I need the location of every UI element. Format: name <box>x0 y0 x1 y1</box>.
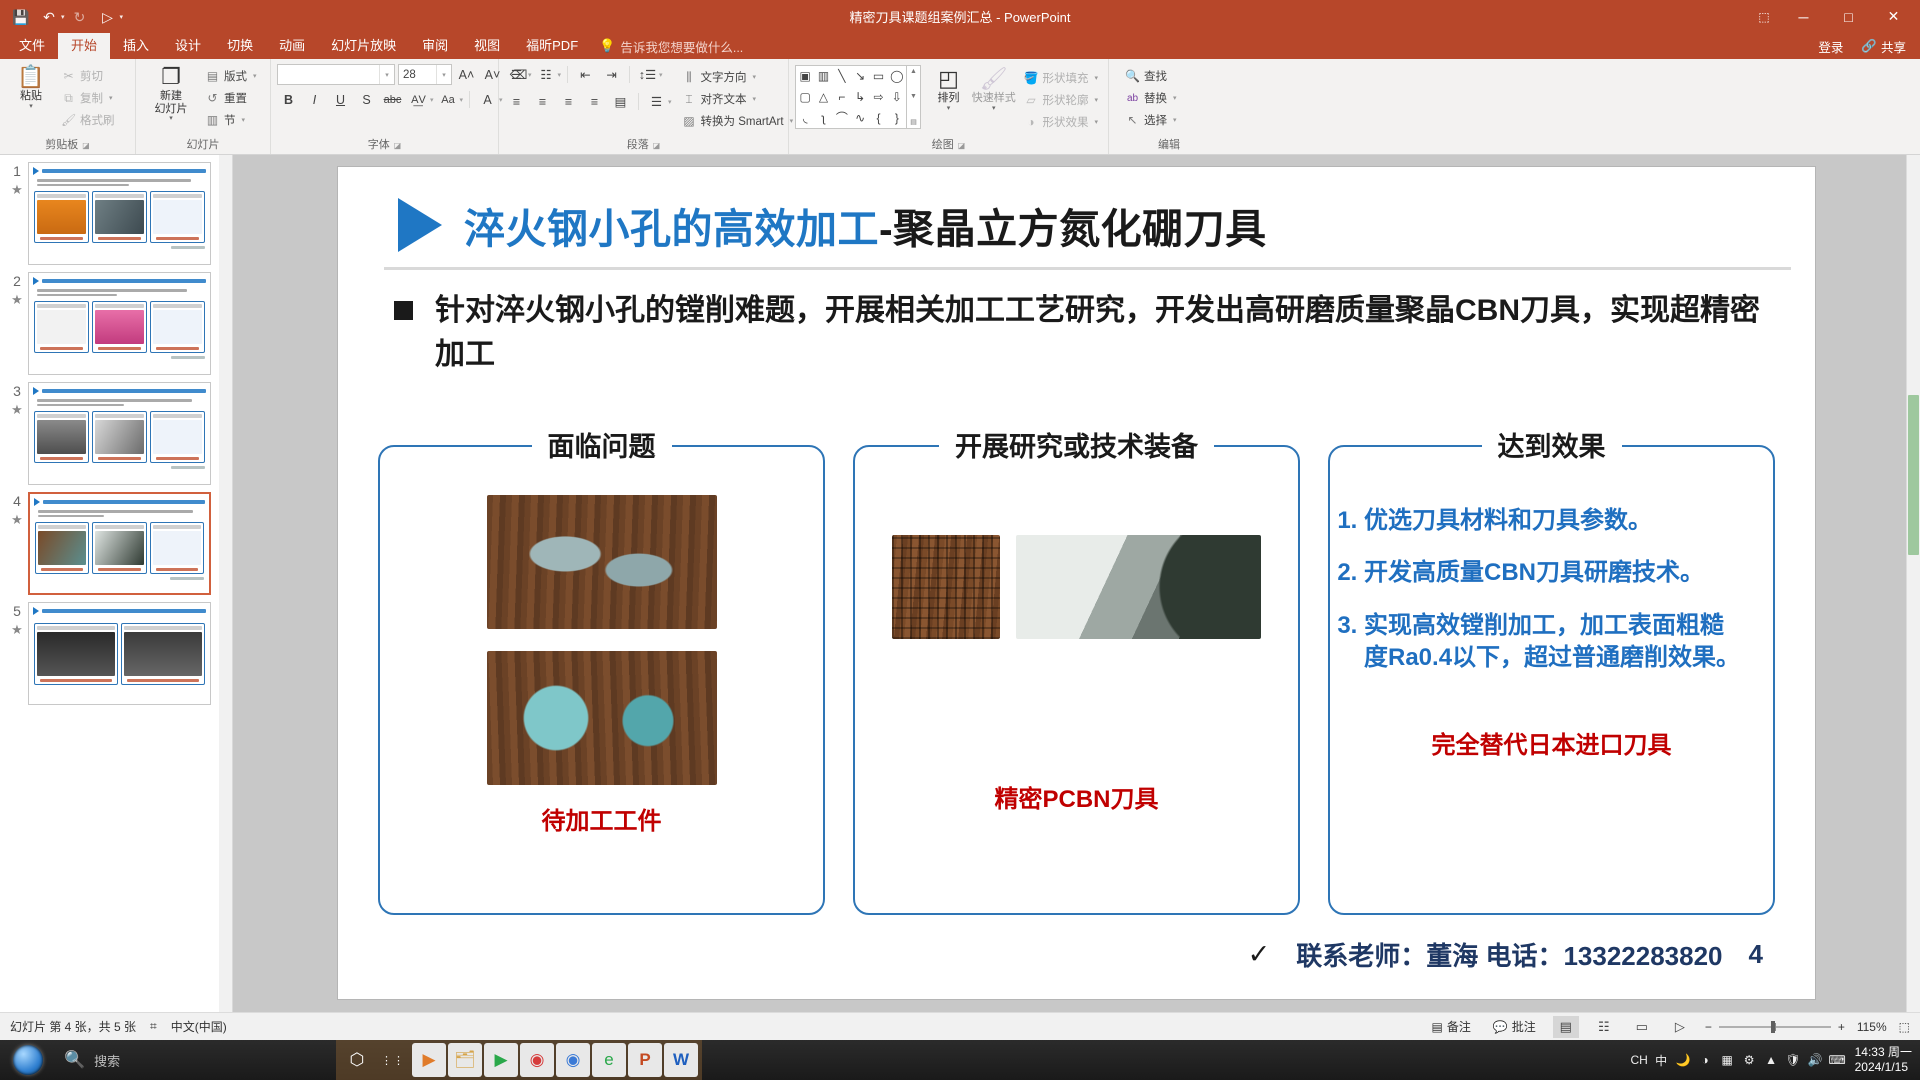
decrease-indent-icon[interactable]: ⇤ <box>574 64 597 85</box>
section-icon: ▥ <box>205 113 220 127</box>
bullet-text: 针对淬火钢小孔的镗削难题，开展相关加工工艺研究，开发出高研磨质量聚晶CBN刀具，… <box>435 289 1763 376</box>
thumbnail-slide-5[interactable] <box>28 602 211 705</box>
font-name-combo[interactable]: ▾ <box>277 64 395 85</box>
slide-bullet-block[interactable]: 针对淬火钢小孔的镗削难题，开展相关加工工艺研究，开发出高研磨质量聚晶CBN刀具，… <box>394 289 1763 376</box>
column-1-box[interactable]: 面临问题 待加工工件 <box>378 445 825 915</box>
list-item[interactable]: 2 ★ <box>0 265 232 375</box>
distribute-icon[interactable]: ▤ <box>609 91 632 112</box>
copy-icon: ⧉ <box>61 91 76 106</box>
shape-triangle-icon[interactable]: △ <box>819 90 828 104</box>
font-size-chevron-down-icon[interactable]: ▾ <box>436 65 451 84</box>
column-1-header-text: 面临问题 <box>532 432 672 462</box>
shape-fill-label: 形状填充 <box>1042 70 1088 86</box>
shape-textbox-icon[interactable]: ▣ <box>799 69 810 83</box>
column-problems: 面临问题 待加工工件 <box>378 445 825 915</box>
layout-chevron-down-icon[interactable]: ▾ <box>253 72 257 80</box>
thumbnail-slide-4-selected[interactable] <box>28 492 211 595</box>
reset-button[interactable]: ↺ 重置 <box>201 87 261 109</box>
font-label-text: 字体 <box>368 138 390 153</box>
thumb-footer <box>29 356 210 361</box>
video-player-icon[interactable]: ▶ <box>484 1043 518 1077</box>
section-chevron-down-icon[interactable]: ▾ <box>242 116 246 124</box>
shape-right-arrow-icon[interactable]: ⇨ <box>873 90 883 104</box>
triangle-icon <box>33 277 39 285</box>
list-item[interactable]: 3 ★ <box>0 375 232 485</box>
list-item[interactable]: 1 ★ <box>0 155 232 265</box>
cortana-dots-icon[interactable]: ⋮⋮ <box>376 1043 410 1077</box>
text-direction-icon: ⫼ <box>682 70 697 85</box>
photo-pcbn-tool-tip <box>1016 535 1261 639</box>
copy-chevron-down-icon[interactable]: ▾ <box>109 94 113 102</box>
italic-button[interactable]: I <box>303 89 326 110</box>
accessibility-icon[interactable]: ⌗ <box>150 1019 157 1034</box>
zoom-track[interactable] <box>1719 1026 1831 1028</box>
editor-scroll-thumb[interactable] <box>1908 395 1919 555</box>
shape-fill-icon: 🪣 <box>1023 71 1038 85</box>
thumb-number-5: 5 ★ <box>6 602 28 636</box>
signin-button[interactable]: 登录 <box>1818 37 1843 56</box>
title-bar-shape <box>42 609 206 613</box>
slide-canvas[interactable]: 淬火钢小孔的高效加工-聚晶立方氮化硼刀具 针对淬火钢小孔的镗削难题，开展相关加工… <box>338 167 1815 999</box>
show-hidden-icons-icon[interactable]: ▲ <box>1763 1050 1780 1070</box>
thumb-title-1 <box>29 163 210 175</box>
shape-effects-button[interactable]: ◑ 形状效果 ▾ <box>1019 111 1102 133</box>
text-shadow-button[interactable]: S <box>355 89 378 110</box>
ribbon-group-clipboard: 📋 粘贴 ▾ ✂ 剪切 ⧉ 复制 ▾ 🖌 <box>0 59 136 154</box>
change-case-chevron-down-icon[interactable]: ▾ <box>460 96 464 104</box>
thumb-footer <box>29 466 210 471</box>
clipboard-label-text: 剪贴板 <box>45 138 78 153</box>
save-icon[interactable]: 💾 <box>8 5 34 29</box>
shape-vertical-textbox-icon[interactable]: ▥ <box>818 69 829 83</box>
clock-time: 14:33 周一 <box>1855 1045 1912 1060</box>
drawing-group-label: 绘图 ◪ <box>789 137 1108 154</box>
normal-view-icon: ▤ <box>1560 1019 1572 1035</box>
taskbar: 🔍 搜索 ⬡ ⋮⋮ ▶ 🗂 ▶ ◉ ◉ e P W CH 中 🌙 ◑ ▦ ⚙ ▲… <box>0 1040 1920 1080</box>
thumb-lines <box>30 506 209 517</box>
shape-left-brace-icon[interactable]: { <box>876 111 880 125</box>
font-size-value: 28 <box>403 69 416 81</box>
title-bar-shape <box>42 169 206 173</box>
language-label[interactable]: 中文(中国) <box>171 1018 227 1035</box>
tab-transitions[interactable]: 切换 <box>214 33 266 59</box>
thumb-lines <box>29 395 210 406</box>
shape-rectangle-icon[interactable]: ▭ <box>873 69 884 83</box>
drawing-dialog-launcher-icon[interactable]: ◪ <box>958 138 966 153</box>
quick-styles-label: 快速样式 <box>972 92 1016 105</box>
copy-label: 复制 <box>80 90 103 106</box>
shape-fill-chevron-down-icon[interactable]: ▾ <box>1094 74 1098 82</box>
shapes-scroll-up-icon[interactable]: ▲ <box>910 68 917 75</box>
shape-fill-button[interactable]: 🪣 形状填充 ▾ <box>1019 67 1102 89</box>
input-mode-chinese-icon[interactable]: 中 <box>1653 1050 1670 1070</box>
tell-me-box[interactable]: 💡 告诉我您想要做什么... <box>599 33 743 59</box>
reset-icon: ↺ <box>205 91 220 105</box>
word-icon[interactable]: W <box>664 1043 698 1077</box>
customize-qat-chevron-down-icon[interactable]: ▾ <box>120 13 124 21</box>
animation-star-icon: ★ <box>6 183 28 196</box>
tab-review[interactable]: 审阅 <box>409 33 461 59</box>
character-spacing-chevron-down-icon[interactable]: ▾ <box>430 96 434 104</box>
undo-icon[interactable]: ↶ <box>36 5 62 29</box>
shape-effects-chevron-down-icon[interactable]: ▾ <box>1094 118 1098 126</box>
shapes-gallery[interactable]: ▣ ▥ ╲ ↘ ▭ ◯ ▢ △ ⌐ ↳ ⇨ ⇩ ◟ ʅ ⌒ <box>795 65 921 129</box>
brightness-icon[interactable]: ◑ <box>1697 1050 1714 1070</box>
cursor-icon: ↖ <box>1125 113 1140 127</box>
edge-legacy-icon[interactable]: e <box>592 1043 626 1077</box>
volume-icon[interactable]: 🔊 <box>1807 1050 1824 1070</box>
status-bar: 幻灯片 第 4 张，共 5 张 ⌗ 中文(中国) ▤备注 💬批注 ▤ ☷ ▭ ▷… <box>0 1012 1920 1040</box>
paste-button[interactable]: 📋 粘贴 ▾ <box>5 63 57 111</box>
font-body: ▾ 28 ▾ A˄ A˅ ⌫ B I U S abc A͟V <box>271 59 498 137</box>
section-label: 节 <box>224 112 236 128</box>
column-2-body <box>855 481 1298 639</box>
scissors-icon: ✂ <box>61 69 76 83</box>
minimize-glyph: ─ <box>1799 9 1809 25</box>
arrange-button[interactable]: ◰ 排列 ▾ <box>927 65 970 113</box>
thumb-lines <box>29 175 210 186</box>
new-slide-chevron-down-icon[interactable]: ▾ <box>169 115 173 123</box>
undo-chevron-down-icon[interactable]: ▾ <box>61 13 65 21</box>
tab-design[interactable]: 设计 <box>162 33 214 59</box>
tab-view[interactable]: 视图 <box>461 33 513 59</box>
convert-to-smartart-button[interactable]: ▨ 转换为 SmartArt ▾ <box>678 110 798 132</box>
text-direction-button[interactable]: ⫼ 文字方向 ▾ <box>678 66 798 88</box>
taskbar-apps: ⬡ ⋮⋮ ▶ 🗂 ▶ ◉ ◉ e P W <box>336 1040 702 1080</box>
reading-view-icon: ▭ <box>1636 1019 1648 1035</box>
shape-freeform-icon[interactable]: ◟ <box>803 111 808 125</box>
paragraph-row-1: ☰ ▾ ☷ ▾ ⇤ ⇥ ↕☰ ▾ <box>505 64 672 85</box>
paragraph-group-label: 段落 ◪ <box>499 137 788 154</box>
settings-gear-icon[interactable]: ⚙ <box>1741 1050 1758 1070</box>
thumb-title-5 <box>29 603 210 615</box>
shape-effects-label: 形状效果 <box>1042 114 1088 130</box>
fit-slide-to-window-icon[interactable]: ⬚ <box>1899 1020 1910 1034</box>
slide-title[interactable]: 淬火钢小孔的高效加工-聚晶立方氮化硼刀具 <box>398 195 1785 255</box>
ribbon-group-font: ▾ 28 ▾ A˄ A˅ ⌫ B I U S abc A͟V <box>271 59 499 154</box>
thumbnail-slide-3[interactable] <box>28 382 211 485</box>
zoom-knob[interactable] <box>1771 1021 1775 1033</box>
tab-foxit-pdf[interactable]: 福昕PDF <box>513 33 591 59</box>
thumbnail-slide-2[interactable] <box>28 272 211 375</box>
text-direction-label: 文字方向 <box>701 69 747 85</box>
thumb-num-text: 5 <box>13 603 21 619</box>
redo-icon[interactable]: ↻ <box>67 5 93 29</box>
ribbon-display-options-icon[interactable]: ⬚ <box>1747 0 1781 33</box>
bullet-square-icon <box>394 301 413 320</box>
thumb-columns <box>29 188 210 246</box>
column-2-box[interactable]: 开展研究或技术装备 精密PCBN刀具 <box>853 445 1300 915</box>
slides-group-label: 幻灯片 <box>136 137 270 154</box>
column-3-footer-text: 完全替代日本进口刀具 <box>1330 681 1773 780</box>
view-slide-sorter-button[interactable]: ☷ <box>1591 1016 1617 1038</box>
view-slideshow-button[interactable]: ▷ <box>1667 1016 1693 1038</box>
column-2-images <box>871 495 1282 639</box>
slideshow-glyph: ▷ <box>102 10 113 24</box>
format-painter-icon: 🖌 <box>61 113 76 127</box>
column-3-box[interactable]: 达到效果 优选刀具材料和刀具参数。 开发高质量CBN刀具研磨技术。 实现高效镗削… <box>1328 445 1775 915</box>
notes-button[interactable]: ▤备注 <box>1426 1016 1475 1038</box>
list-item[interactable]: 5 ★ <box>0 595 232 705</box>
keyboard-layout-icon[interactable]: ▦ <box>1719 1050 1736 1070</box>
font-color-icon[interactable]: A <box>476 89 499 110</box>
column-3-header-text: 达到效果 <box>1482 432 1622 462</box>
triangle-icon <box>33 607 39 615</box>
new-slide-icon: ❐ <box>161 65 181 89</box>
thumb-num-text: 1 <box>13 163 21 179</box>
comments-button[interactable]: 💬批注 <box>1488 1016 1541 1038</box>
thumb-num-text: 3 <box>13 383 21 399</box>
arrange-label: 排列 <box>937 92 959 105</box>
drawing-body: ▣ ▥ ╲ ↘ ▭ ◯ ▢ △ ⌐ ↳ ⇨ ⇩ ◟ ʅ ⌒ <box>789 59 1108 137</box>
shape-outline-chevron-down-icon[interactable]: ▾ <box>1094 96 1098 104</box>
clipboard-dialog-launcher-icon[interactable]: ◪ <box>82 138 90 153</box>
window-title: 精密刀具课题组案例汇总 - PowerPoint <box>0 7 1920 26</box>
align-center-icon[interactable]: ≡ <box>531 91 554 112</box>
thumb-num-text: 4 <box>13 493 21 509</box>
start-button[interactable] <box>0 1040 56 1080</box>
view-reading-button[interactable]: ▭ <box>1629 1016 1655 1038</box>
character-spacing-icon[interactable]: A͟V <box>407 89 430 110</box>
list-item: 实现高效镗削加工，加工表面粗糙度Ra0.4以下，超过普通磨削效果。 <box>1364 610 1747 675</box>
zoom-in-button[interactable]: + <box>1838 1020 1845 1034</box>
tab-slideshow[interactable]: 幻灯片放映 <box>318 33 409 59</box>
zoom-out-button[interactable]: − <box>1705 1020 1712 1034</box>
shape-elbow-arrow-icon[interactable]: ↳ <box>855 90 865 104</box>
shape-oval-icon[interactable]: ◯ <box>890 69 903 83</box>
quick-styles-chevron-down-icon[interactable]: ▾ <box>992 105 996 113</box>
layout-button[interactable]: ▤ 版式 ▾ <box>201 65 261 87</box>
select-label: 选择 <box>1144 112 1167 128</box>
clipboard-body: 📋 粘贴 ▾ ✂ 剪切 ⧉ 复制 ▾ 🖌 <box>0 59 135 137</box>
thumb-footer <box>29 246 210 251</box>
column-2-header-text: 开展研究或技术装备 <box>939 432 1214 462</box>
change-case-icon[interactable]: Aa <box>437 89 460 110</box>
shape-elbow-connector-icon[interactable]: ⌐ <box>838 90 845 104</box>
animation-star-icon: ★ <box>6 513 28 526</box>
check-icon: ✓ <box>1248 939 1271 970</box>
clipboard-small-buttons: ✂ 剪切 ⧉ 复制 ▾ 🖌 格式刷 <box>57 63 119 131</box>
numbering-chevron-down-icon[interactable]: ▾ <box>558 71 562 79</box>
find-button[interactable]: 🔍 查找 <box>1121 65 1181 87</box>
align-text-button[interactable]: ⌶ 对齐文本 ▾ <box>678 88 798 110</box>
shapes-scrollbar[interactable]: ▲ ▼ ▤ <box>907 65 921 129</box>
shapes-more-icon[interactable]: ▤ <box>910 118 917 126</box>
increase-font-size-icon[interactable]: A˄ <box>455 64 478 85</box>
triangle-icon <box>34 498 40 506</box>
tell-me-placeholder: 告诉我您想要做什么... <box>620 37 743 56</box>
slide-thumbnail-pane[interactable]: 1 ★ 2 ★ <box>0 155 233 1012</box>
bold-button[interactable]: B <box>277 89 300 110</box>
bullets-icon[interactable]: ☰ <box>505 64 528 85</box>
paste-chevron-down-icon[interactable]: ▾ <box>29 103 33 111</box>
underline-button[interactable]: U <box>329 89 352 110</box>
browser-colorful-icon[interactable]: ◉ <box>520 1043 554 1077</box>
select-chevron-down-icon[interactable]: ▾ <box>1173 116 1177 124</box>
shape-right-brace-icon[interactable]: } <box>895 111 899 125</box>
format-painter-button[interactable]: 🖌 格式刷 <box>57 109 119 131</box>
editor-vertical-scrollbar[interactable] <box>1906 155 1920 1012</box>
column-1-images <box>396 495 807 785</box>
account-area: 登录 🔗共享 <box>1818 33 1920 59</box>
network-icon[interactable]: ⌨ <box>1829 1050 1846 1070</box>
column-results: 达到效果 优选刀具材料和刀具参数。 开发高质量CBN刀具研磨技术。 实现高效镗削… <box>1328 445 1775 915</box>
workspace: 1 ★ 2 ★ <box>0 155 1920 1012</box>
slides-body: ❐ 新建 幻灯片 ▾ ▤ 版式 ▾ ↺ 重置 ▥ <box>136 59 270 137</box>
undo-glyph: ↶ <box>43 10 55 24</box>
maximize-button[interactable]: □ <box>1826 0 1871 33</box>
thumb-title-3 <box>29 383 210 395</box>
replace-button[interactable]: ab 替换 ▾ <box>1121 87 1181 109</box>
zoom-midpoint <box>1775 1023 1776 1031</box>
file-explorer-icon[interactable]: 🗂 <box>448 1043 482 1077</box>
shape-scribble-icon[interactable]: ʅ <box>822 111 825 125</box>
align-text-icon: ⌶ <box>682 92 697 107</box>
columns-chevron-down-icon[interactable]: ▾ <box>668 98 672 106</box>
search-placeholder: 搜索 <box>94 1051 120 1070</box>
shapes-scroll-down-icon[interactable]: ▼ <box>910 93 917 100</box>
cut-label: 剪切 <box>80 68 103 84</box>
zoom-level-label[interactable]: 115% <box>1857 1020 1887 1034</box>
status-right: ▤备注 💬批注 ▤ ☷ ▭ ▷ − + 115% ⬚ <box>1426 1016 1910 1038</box>
thumb-number-3: 3 ★ <box>6 382 28 416</box>
paragraph-body: ☰ ▾ ☷ ▾ ⇤ ⇥ ↕☰ ▾ ≡ ≡ ≡ <box>499 59 788 137</box>
shape-arrow-icon[interactable]: ↘ <box>855 69 865 83</box>
paragraph-label-text: 段落 <box>627 138 649 153</box>
column-2-footer-text: 精密PCBN刀具 <box>855 639 1298 834</box>
copy-button[interactable]: ⧉ 复制 ▾ <box>57 87 119 109</box>
column-3-header: 达到效果 <box>1330 425 1773 464</box>
share-button[interactable]: 🔗共享 <box>1861 37 1906 56</box>
line-spacing-chevron-down-icon[interactable]: ▾ <box>659 71 663 79</box>
security-shield-icon[interactable]: 🛡 <box>1785 1050 1802 1070</box>
shape-format-buttons: 🪣 形状填充 ▾ ▱ 形状轮廓 ▾ ◑ 形状效果 ▾ <box>1019 65 1102 133</box>
task-view-icon[interactable]: ⬡ <box>340 1043 374 1077</box>
paste-label: 粘贴 <box>20 90 42 103</box>
title-bar-shape <box>43 500 205 504</box>
tab-animations[interactable]: 动画 <box>266 33 318 59</box>
column-2-header: 开展研究或技术装备 <box>855 425 1298 464</box>
tab-file[interactable]: 文件 <box>6 33 58 59</box>
shape-down-arrow-icon[interactable]: ⇩ <box>892 90 902 104</box>
layout-label: 版式 <box>224 68 247 84</box>
paragraph-dialog-launcher-icon[interactable]: ◪ <box>653 138 661 153</box>
triangle-icon <box>33 387 39 395</box>
shape-rounded-rect-icon[interactable]: ▢ <box>799 90 810 104</box>
ribbon-display-glyph: ⬚ <box>1758 10 1769 24</box>
share-label: 共享 <box>1881 37 1906 56</box>
slides-small-buttons: ▤ 版式 ▾ ↺ 重置 ▥ 节 ▾ <box>201 63 261 131</box>
column-1-header: 面临问题 <box>380 425 823 464</box>
tab-home[interactable]: 开始 <box>58 33 110 59</box>
contact-text: 联系老师：董海 电话：13322283820 <box>1296 936 1722 973</box>
animation-star-icon: ★ <box>6 623 28 636</box>
slide-editor[interactable]: 淬火钢小孔的高效加工-聚晶立方氮化硼刀具 针对淬火钢小孔的镗削难题，开展相关加工… <box>233 155 1920 1012</box>
lightbulb-icon: 💡 <box>599 38 615 54</box>
shape-arc-icon[interactable]: ⌒ <box>836 109 848 126</box>
align-left-icon[interactable]: ≡ <box>505 91 528 112</box>
view-normal-button[interactable]: ▤ <box>1553 1016 1579 1038</box>
quick-styles-button[interactable]: 🖌 快速样式 ▾ <box>970 65 1018 113</box>
list-item[interactable]: 4 ★ <box>0 485 232 595</box>
font-separator <box>469 91 470 108</box>
section-button[interactable]: ▥ 节 ▾ <box>201 109 261 131</box>
format-painter-label: 格式刷 <box>80 112 115 128</box>
minimize-button[interactable]: ─ <box>1781 0 1826 33</box>
powerpoint-icon[interactable]: P <box>628 1043 662 1077</box>
font-group-label: 字体 ◪ <box>271 137 498 154</box>
clock[interactable]: 14:33 周一 2024/1/15 <box>1851 1045 1912 1075</box>
title-blue-part: 淬火钢小孔的高效加工 <box>464 206 879 252</box>
select-button[interactable]: ↖ 选择 ▾ <box>1121 109 1181 131</box>
column-research: 开展研究或技术装备 精密PCBN刀具 <box>853 445 1300 915</box>
moon-icon[interactable]: 🌙 <box>1675 1050 1692 1070</box>
new-slide-label: 新建 幻灯片 <box>155 90 188 115</box>
font-size-combo[interactable]: 28 ▾ <box>398 64 452 85</box>
shapes-grid[interactable]: ▣ ▥ ╲ ↘ ▭ ◯ ▢ △ ⌐ ↳ ⇨ ⇩ ◟ ʅ ⌒ <box>795 65 907 129</box>
tab-insert[interactable]: 插入 <box>110 33 162 59</box>
replace-label: 替换 <box>1144 90 1167 106</box>
font-name-chevron-down-icon[interactable]: ▾ <box>379 65 394 84</box>
editing-buttons: 🔍 查找 ab 替换 ▾ ↖ 选择 ▾ <box>1121 63 1181 131</box>
find-label: 查找 <box>1144 68 1167 84</box>
media-player-icon[interactable]: ▶ <box>412 1043 446 1077</box>
columns-icon[interactable]: ☰ <box>645 91 668 112</box>
slideshow-view-icon: ▷ <box>1675 1019 1685 1035</box>
animation-star-icon: ★ <box>6 403 28 416</box>
cut-button[interactable]: ✂ 剪切 <box>57 65 119 87</box>
increase-indent-icon[interactable]: ⇥ <box>600 64 623 85</box>
shape-outline-label: 形状轮廓 <box>1042 92 1088 108</box>
photo-workpiece-bottom <box>487 651 717 785</box>
windows-orb-icon <box>13 1045 43 1075</box>
close-button[interactable]: ✕ <box>1871 0 1916 33</box>
shape-curve-icon[interactable]: ∿ <box>855 111 865 125</box>
thumbnail-scrollbar[interactable] <box>219 155 232 1012</box>
triangle-icon <box>33 167 39 175</box>
bullets-chevron-down-icon[interactable]: ▾ <box>528 71 532 79</box>
text-direction-chevron-down-icon[interactable]: ▾ <box>753 73 757 81</box>
font-dialog-launcher-icon[interactable]: ◪ <box>394 138 402 153</box>
search-icon: 🔍 <box>64 1050 85 1070</box>
input-method-ch-icon[interactable]: CH <box>1631 1050 1648 1070</box>
start-slideshow-icon[interactable]: ▷ <box>95 5 121 29</box>
title-triangle-icon <box>398 198 442 252</box>
column-1-body <box>380 481 823 785</box>
numbering-icon[interactable]: ☷ <box>535 64 558 85</box>
line-spacing-icon[interactable]: ↕☰ <box>636 64 659 85</box>
align-text-chevron-down-icon[interactable]: ▾ <box>753 95 757 103</box>
slide-sorter-icon: ☷ <box>1598 1019 1610 1035</box>
taskbar-search[interactable]: 🔍 搜索 <box>56 1050 336 1070</box>
thumbnail-slide-1[interactable] <box>28 162 211 265</box>
zoom-slider[interactable]: − + <box>1705 1020 1845 1034</box>
new-slide-button[interactable]: ❐ 新建 幻灯片 ▾ <box>141 63 201 123</box>
slide-count-label: 幻灯片 第 4 张，共 5 张 <box>10 1018 136 1035</box>
thumb-number-2: 2 ★ <box>6 272 28 306</box>
strikethrough-button[interactable]: abc <box>381 89 404 110</box>
align-right-icon[interactable]: ≡ <box>557 91 580 112</box>
shape-outline-button[interactable]: ▱ 形状轮廓 ▾ <box>1019 89 1102 111</box>
paste-icon: 📋 <box>17 65 44 89</box>
shape-line-icon[interactable]: ╲ <box>838 69 845 83</box>
chrome-icon[interactable]: ◉ <box>556 1043 590 1077</box>
arrange-chevron-down-icon[interactable]: ▾ <box>947 105 951 113</box>
title-underline-rule <box>384 267 1791 270</box>
justify-icon[interactable]: ≡ <box>583 91 606 112</box>
replace-chevron-down-icon[interactable]: ▾ <box>1173 94 1177 102</box>
ribbon-group-slides: ❐ 新建 幻灯片 ▾ ▤ 版式 ▾ ↺ 重置 ▥ <box>136 59 271 154</box>
